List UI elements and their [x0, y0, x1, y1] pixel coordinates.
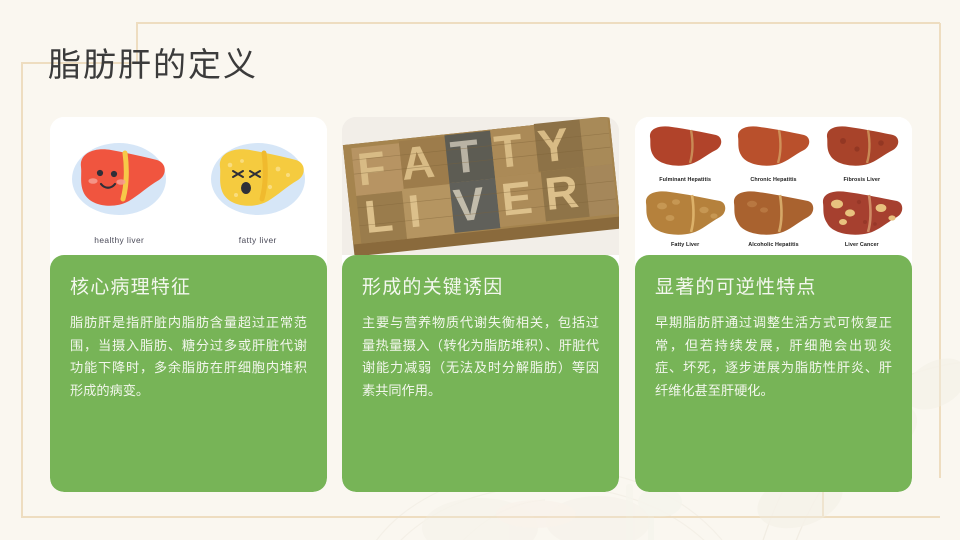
card-title: 核心病理特征 [70, 277, 307, 300]
card-media-letterpress: F A T T Y L I V E R [342, 117, 619, 255]
card-title: 显著的可逆性特点 [655, 277, 892, 300]
frame-line-bottom [21, 516, 824, 518]
svg-text:A: A [398, 135, 438, 190]
cartoon-liver-fatty: fatty liver [189, 117, 328, 255]
page-title: 脂肪肝的定义 [48, 38, 258, 86]
card-body: 核心病理特征 脂肪肝是指肝脏内脂肪含量超过正常范围，当摄入脂肪、糖分过多或肝脏代… [50, 255, 327, 492]
card-body: 显著的可逆性特点 早期脂肪肝通过调整生活方式可恢复正常，但若持续发展，肝细胞会出… [635, 255, 912, 492]
liver-stage-label: Fibrosis Liver [818, 177, 906, 183]
caption-fatty-liver: fatty liver [189, 235, 328, 245]
liver-stage-chronic-hepatitis: Chronic Hepatitis [729, 121, 817, 186]
svg-text:T: T [492, 123, 527, 178]
svg-text:Y: Y [535, 117, 573, 172]
liver-stage-label: Liver Cancer [818, 242, 906, 248]
svg-text:F: F [355, 141, 390, 196]
card-text: 主要与营养物质代谢失衡相关，包括过量热量摄入（转化为脂肪堆积）、肝脏代谢能力减弱… [362, 312, 599, 403]
liver-icon [646, 123, 724, 167]
content-card[interactable]: healthy liver [50, 117, 327, 492]
svg-text:V: V [451, 177, 489, 232]
caption-healthy-liver: healthy liver [50, 235, 189, 245]
frame-step-bottom-right-h [822, 516, 940, 518]
liver-stage-fatty-liver: Fatty Liver [641, 186, 729, 251]
cartoon-liver-healthy: healthy liver [50, 117, 189, 255]
card-body: 形成的关键诱因 主要与营养物质代谢失衡相关，包括过量热量摄入（转化为脂肪堆积）、… [342, 255, 619, 492]
svg-text:L: L [362, 188, 397, 243]
liver-stage-fulminant-hepatitis: Fulminant Hepatitis [641, 121, 729, 186]
svg-text:E: E [499, 171, 537, 226]
card-media-liver-disease-chart: Fulminant Hepatitis Chronic Hepatitis [635, 117, 912, 255]
liver-icon [734, 123, 812, 167]
liver-stage-alcoholic-hepatitis: Alcoholic Hepatitis [729, 186, 817, 251]
card-media-cartoon-livers: healthy liver [50, 117, 327, 255]
liver-icon [730, 188, 816, 236]
slide-canvas: 脂肪肝的定义 healthy liver [0, 0, 960, 540]
frame-line-left [21, 62, 23, 517]
card-text: 脂肪肝是指肝脏内脂肪含量超过正常范围，当摄入脂肪、糖分过多或肝脏代谢功能下降时，… [70, 312, 307, 403]
letterpress-photo: F A T T Y L I V E R [342, 117, 619, 255]
liver-stage-label: Chronic Hepatitis [729, 177, 817, 183]
liver-stage-fibrosis-liver: Fibrosis Liver [818, 121, 906, 186]
healthy-liver-icon [67, 133, 171, 225]
card-text: 早期脂肪肝通过调整生活方式可恢复正常，但若持续发展，肝细胞会出现炎症、坏死，逐步… [655, 312, 892, 403]
liver-stage-label: Alcoholic Hepatitis [729, 242, 817, 248]
liver-stage-label: Fulminant Hepatitis [641, 177, 729, 183]
content-card[interactable]: Fulminant Hepatitis Chronic Hepatitis [635, 117, 912, 492]
liver-icon [819, 188, 905, 236]
fatty-liver-icon [206, 133, 310, 225]
liver-icon [823, 123, 901, 167]
svg-text:T: T [448, 129, 483, 184]
liver-stage-liver-cancer: Liver Cancer [818, 186, 906, 251]
svg-text:R: R [542, 165, 582, 220]
card-title: 形成的关键诱因 [362, 277, 599, 300]
content-card[interactable]: F A T T Y L I V E R [342, 117, 619, 492]
liver-stage-label: Fatty Liver [641, 242, 729, 248]
frame-line-right [939, 23, 941, 478]
frame-line-top [137, 22, 940, 24]
liver-icon [642, 188, 728, 236]
